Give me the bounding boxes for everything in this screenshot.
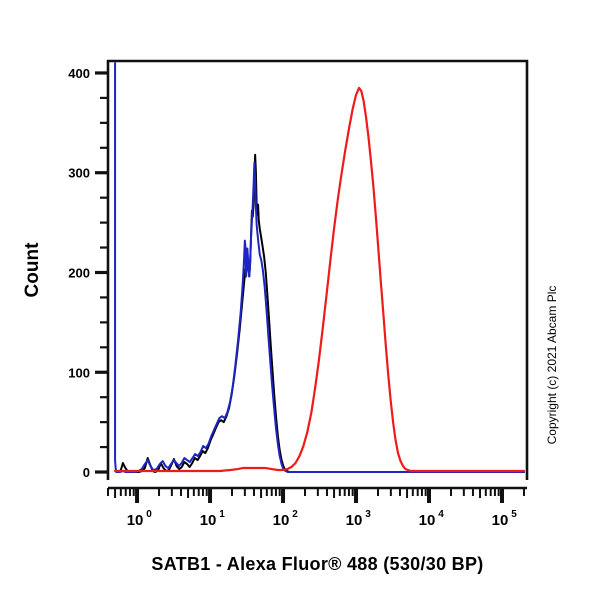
axis-labels: CountSATB1 - Alexa Fluor® 488 (530/30 BP… (22, 242, 559, 574)
y-tick-label: 100 (68, 365, 90, 380)
x-tick-label: 105 (492, 509, 518, 529)
flow-cytometry-figure: 0100200300400 100101102103104105 CountSA… (0, 0, 600, 600)
series-isotype-control (115, 63, 524, 472)
x-tick-label: 104 (419, 509, 445, 529)
plot-frame (108, 61, 527, 480)
y-axis: 0100200300400 (68, 66, 108, 480)
plot-border (108, 61, 527, 480)
y-tick-label: 0 (83, 465, 90, 480)
y-tick-label: 400 (68, 66, 90, 81)
x-tick-label: 100 (127, 509, 153, 529)
x-axis-title: SATB1 - Alexa Fluor® 488 (530/30 BP) (151, 554, 483, 574)
series-unstained-control (116, 155, 524, 472)
x-tick-exponent: 2 (292, 509, 298, 520)
x-tick-exponent: 1 (219, 509, 225, 520)
x-tick-exponent: 4 (438, 509, 444, 520)
histogram-plot: 0100200300400 100101102103104105 CountSA… (0, 0, 600, 600)
data-series-group (115, 63, 524, 472)
x-tick-exponent: 0 (146, 509, 152, 520)
x-tick-mantissa: 10 (200, 512, 217, 529)
x-tick-mantissa: 10 (127, 512, 144, 529)
x-tick-exponent: 3 (365, 509, 371, 520)
copyright-label: Copyright (c) 2021 Abcam Plc (545, 286, 559, 445)
x-tick-mantissa: 10 (273, 512, 290, 529)
x-tick-mantissa: 10 (346, 512, 363, 529)
x-tick-label: 103 (346, 509, 372, 529)
y-tick-label: 200 (68, 265, 90, 280)
x-tick-label: 101 (200, 509, 226, 529)
x-tick-label: 102 (273, 509, 299, 529)
y-axis-title: Count (22, 242, 43, 298)
x-tick-mantissa: 10 (492, 512, 509, 529)
series-satb1-stained (115, 88, 524, 471)
x-tick-exponent: 5 (511, 509, 517, 520)
x-axis: 100101102103104105 (108, 488, 527, 529)
x-tick-mantissa: 10 (419, 512, 436, 529)
y-tick-label: 300 (68, 166, 90, 181)
